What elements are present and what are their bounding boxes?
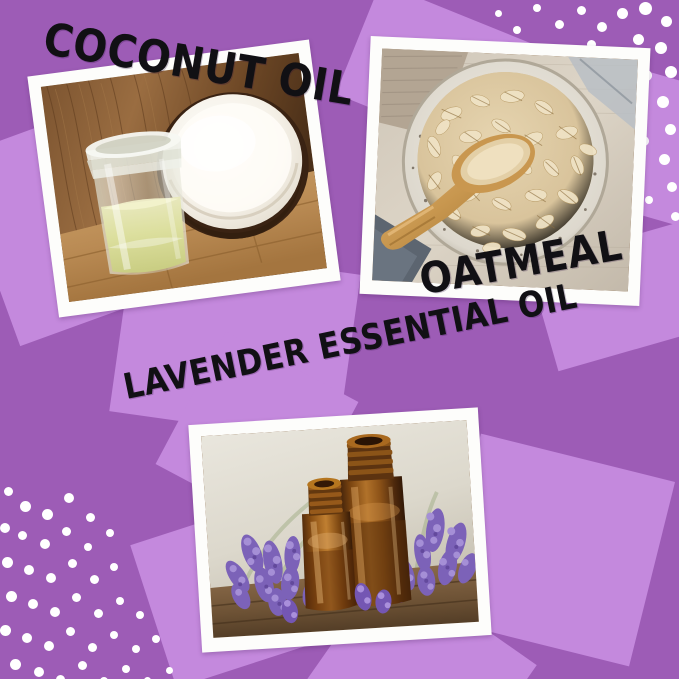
polka-dot	[4, 487, 13, 496]
polka-dot	[42, 509, 53, 520]
polka-dot	[597, 22, 607, 32]
polka-dot	[655, 42, 667, 54]
polka-dot	[56, 675, 65, 679]
polka-dot	[24, 565, 34, 575]
polka-dot	[110, 563, 118, 571]
polka-dot	[661, 16, 672, 27]
poster-canvas: COCONUT OIL OATMEAL LAVENDER ESSENTIAL O…	[0, 0, 679, 679]
polka-dot	[577, 6, 586, 15]
polka-dot	[10, 659, 21, 670]
polka-dot	[86, 513, 95, 522]
polka-dot	[66, 627, 75, 636]
polka-dot	[84, 543, 92, 551]
polka-dot	[122, 665, 130, 673]
polka-dot	[62, 527, 71, 536]
polka-dot	[495, 10, 502, 17]
polka-dot	[18, 531, 27, 540]
polka-dot	[106, 529, 114, 537]
photo-card-lavender-essential-oil	[188, 407, 491, 652]
polka-dot	[617, 8, 628, 19]
polka-dot	[28, 599, 38, 609]
polka-dot	[34, 667, 44, 677]
polka-dot	[513, 26, 521, 34]
polka-dot	[2, 557, 13, 568]
polka-dot	[0, 625, 11, 636]
polka-dot	[110, 631, 118, 639]
polka-dot	[136, 611, 144, 619]
polka-dot	[72, 593, 81, 602]
polka-dot	[116, 597, 124, 605]
polka-dot	[22, 633, 32, 643]
polka-dot	[90, 575, 99, 584]
polka-dot	[6, 591, 17, 602]
polka-dot	[44, 641, 54, 651]
polka-dot	[64, 493, 74, 503]
polka-dot	[20, 501, 31, 512]
polka-dot	[555, 20, 564, 29]
polka-dot	[633, 34, 644, 45]
lavender-essential-oil-photo	[201, 420, 479, 638]
polka-dot	[639, 2, 652, 15]
polka-dot	[68, 559, 77, 568]
polka-dot	[533, 4, 541, 12]
polka-dot	[94, 609, 103, 618]
polka-dot	[50, 607, 60, 617]
polka-dot	[0, 523, 10, 533]
polka-dot	[132, 645, 140, 653]
polka-dot	[78, 661, 87, 670]
polka-dot	[88, 643, 97, 652]
polka-dot	[40, 539, 50, 549]
polka-dot	[46, 573, 56, 583]
